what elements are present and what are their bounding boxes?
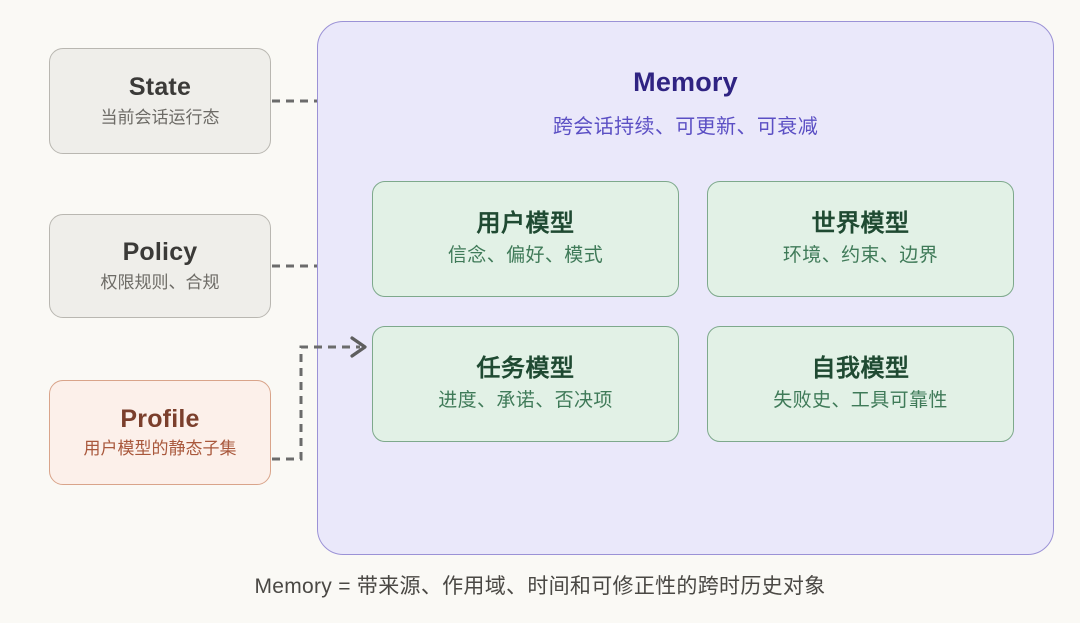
memory-panel-title: Memory: [318, 67, 1053, 98]
side-box-subtitle: 用户模型的静态子集: [84, 438, 237, 460]
model-card-task-model[interactable]: 任务模型 进度、承诺、否决项: [372, 326, 679, 442]
model-card-user-model[interactable]: 用户模型 信念、偏好、模式: [372, 181, 679, 297]
side-box-subtitle: 权限规则、合规: [101, 272, 220, 294]
model-card-subtitle: 信念、偏好、模式: [448, 244, 603, 268]
side-box-title: Profile: [120, 405, 199, 434]
side-box-profile[interactable]: Profile 用户模型的静态子集: [49, 380, 271, 485]
diagram-canvas: Memory 跨会话持续、可更新、可衰减 用户模型 信念、偏好、模式 世界模型 …: [0, 0, 1080, 623]
side-box-policy[interactable]: Policy 权限规则、合规: [49, 214, 271, 318]
memory-panel-subtitle: 跨会话持续、可更新、可衰减: [318, 110, 1053, 139]
model-card-world-model[interactable]: 世界模型 环境、约束、边界: [707, 181, 1014, 297]
memory-panel: Memory 跨会话持续、可更新、可衰减 用户模型 信念、偏好、模式 世界模型 …: [317, 21, 1054, 555]
model-card-title: 用户模型: [477, 210, 575, 238]
model-card-title: 自我模型: [812, 355, 910, 383]
side-box-subtitle: 当前会话运行态: [101, 107, 220, 129]
side-box-state[interactable]: State 当前会话运行态: [49, 48, 271, 154]
diagram-caption: Memory = 带来源、作用域、时间和可修正性的跨时历史对象: [0, 570, 1080, 600]
model-card-subtitle: 失败史、工具可靠性: [773, 389, 948, 413]
model-card-subtitle: 环境、约束、边界: [783, 244, 938, 268]
side-box-title: Policy: [123, 238, 198, 267]
model-card-title: 任务模型: [477, 355, 575, 383]
side-box-title: State: [129, 73, 191, 102]
model-card-subtitle: 进度、承诺、否决项: [438, 389, 613, 413]
model-card-title: 世界模型: [812, 210, 910, 238]
model-card-self-model[interactable]: 自我模型 失败史、工具可靠性: [707, 326, 1014, 442]
